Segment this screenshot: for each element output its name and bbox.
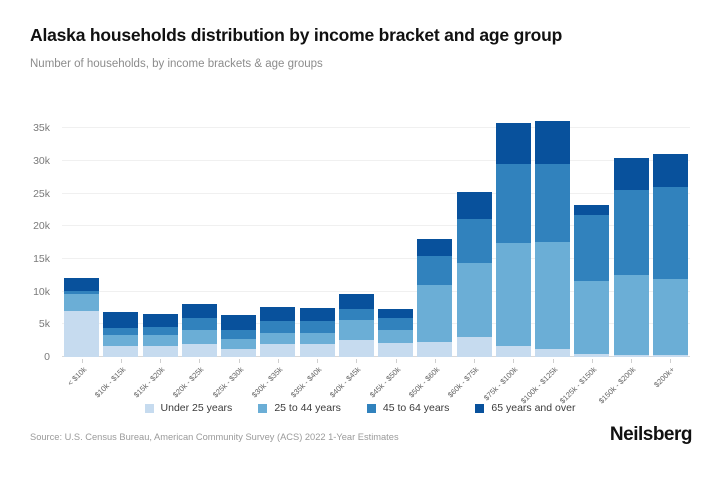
bar-stack[interactable] — [260, 112, 295, 357]
bar-segment[interactable] — [260, 321, 295, 333]
y-tick-label: 35k — [33, 123, 50, 134]
tick-mark — [356, 359, 357, 363]
legend-item[interactable]: 25 to 44 years — [258, 402, 341, 414]
bar-segment[interactable] — [143, 327, 178, 335]
y-axis-labels: 05k10k15k20k25k30k35k — [0, 112, 56, 357]
bar-segment[interactable] — [653, 154, 688, 187]
legend-label: 65 years and over — [491, 402, 575, 414]
bar-stack[interactable] — [103, 112, 138, 357]
bar-stack[interactable] — [653, 112, 688, 357]
bar-segment[interactable] — [535, 349, 570, 357]
bar-segment[interactable] — [378, 309, 413, 319]
tick-mark — [435, 359, 436, 363]
x-tick: $45k - $50k — [378, 357, 413, 403]
y-tick-label: 25k — [33, 188, 50, 199]
bar-segment[interactable] — [653, 279, 688, 355]
legend-label: 25 to 44 years — [274, 402, 341, 414]
bar-stack[interactable] — [182, 112, 217, 357]
tick-mark — [239, 359, 240, 363]
brand-logo: Neilsberg — [610, 424, 692, 446]
tick-mark — [592, 359, 593, 363]
legend-label: 45 to 64 years — [383, 402, 450, 414]
bar-segment[interactable] — [182, 304, 217, 318]
x-tick: $20k - $25k — [182, 357, 217, 403]
bar-segment[interactable] — [417, 256, 452, 285]
bar-segment[interactable] — [64, 294, 99, 312]
bar-segment[interactable] — [535, 242, 570, 348]
tick-mark — [199, 359, 200, 363]
bar-segment[interactable] — [574, 281, 609, 354]
bar-segment[interactable] — [417, 239, 452, 255]
bar-segment[interactable] — [535, 121, 570, 164]
bar-stack[interactable] — [378, 112, 413, 357]
bar-segment[interactable] — [457, 192, 492, 219]
x-tick: $35k - $40k — [300, 357, 335, 403]
x-tick-label: $200k+ — [653, 365, 677, 389]
y-tick-label: 15k — [33, 254, 50, 265]
legend-swatch-icon — [367, 404, 376, 413]
legend-swatch-icon — [258, 404, 267, 413]
bar-segment[interactable] — [103, 346, 138, 357]
bar-group — [62, 112, 690, 357]
bar-segment[interactable] — [260, 333, 295, 344]
bar-stack[interactable] — [417, 112, 452, 357]
bar-segment[interactable] — [496, 123, 531, 164]
legend-item[interactable]: 65 years and over — [475, 402, 575, 414]
bar-stack[interactable] — [64, 112, 99, 357]
bar-segment[interactable] — [300, 321, 335, 333]
bar-segment[interactable] — [300, 308, 335, 321]
bar-segment[interactable] — [378, 343, 413, 357]
bar-segment[interactable] — [614, 275, 649, 355]
bar-segment[interactable] — [221, 349, 256, 357]
bar-segment[interactable] — [496, 164, 531, 243]
tick-mark — [553, 359, 554, 363]
tick-mark — [631, 359, 632, 363]
bar-segment[interactable] — [300, 333, 335, 344]
bar-segment[interactable] — [182, 330, 217, 344]
bar-segment[interactable] — [496, 346, 531, 357]
bar-segment[interactable] — [221, 315, 256, 331]
bar-segment[interactable] — [103, 335, 138, 346]
y-tick-label: 20k — [33, 221, 50, 232]
legend-label: Under 25 years — [161, 402, 233, 414]
bar-segment[interactable] — [260, 344, 295, 357]
bar-segment[interactable] — [64, 311, 99, 357]
bar-segment[interactable] — [221, 330, 256, 339]
bar-segment[interactable] — [574, 205, 609, 215]
legend-item[interactable]: Under 25 years — [145, 402, 233, 414]
chart-card: Alaska households distribution by income… — [0, 0, 720, 480]
x-tick: $25k - $30k — [221, 357, 256, 403]
tick-mark — [474, 359, 475, 363]
x-tick: $15k - $20k — [143, 357, 178, 403]
bar-segment[interactable] — [653, 187, 688, 279]
tick-mark — [670, 359, 671, 363]
legend-swatch-icon — [475, 404, 484, 413]
bar-segment[interactable] — [535, 164, 570, 242]
bar-stack[interactable] — [457, 112, 492, 357]
bar-segment[interactable] — [221, 339, 256, 349]
tick-mark — [82, 359, 83, 363]
bar-segment[interactable] — [260, 307, 295, 321]
bar-segment[interactable] — [64, 278, 99, 291]
chart-subtitle: Number of households, by income brackets… — [30, 58, 323, 70]
legend-swatch-icon — [145, 404, 154, 413]
bar-stack[interactable] — [614, 112, 649, 357]
x-axis-labels: < $10k$10k - $15k$15k - $20k$20k - $25k$… — [62, 357, 690, 403]
bar-stack[interactable] — [221, 112, 256, 357]
x-tick: $30k - $35k — [260, 357, 295, 403]
bar-segment[interactable] — [417, 285, 452, 342]
tick-mark — [160, 359, 161, 363]
bar-segment[interactable] — [143, 346, 178, 357]
bar-segment[interactable] — [378, 318, 413, 329]
bar-segment[interactable] — [614, 158, 649, 190]
bar-segment[interactable] — [339, 294, 374, 309]
bar-stack[interactable] — [339, 112, 374, 357]
bar-segment[interactable] — [457, 219, 492, 263]
x-tick-label: < $10k — [65, 365, 88, 388]
x-tick: $40k - $45k — [339, 357, 374, 403]
bar-segment[interactable] — [103, 328, 138, 335]
y-tick-label: 5k — [39, 319, 50, 330]
plot-area — [62, 112, 690, 357]
bar-segment[interactable] — [614, 190, 649, 276]
y-tick-label: 10k — [33, 286, 50, 297]
bar-segment[interactable] — [182, 318, 217, 330]
x-tick: $150k - $200k — [614, 357, 649, 403]
chart-legend: Under 25 years25 to 44 years45 to 64 yea… — [0, 402, 720, 414]
source-note: Source: U.S. Census Bureau, American Com… — [30, 432, 399, 442]
bar-stack[interactable] — [143, 112, 178, 357]
tick-mark — [278, 359, 279, 363]
tick-mark — [513, 359, 514, 363]
bar-stack[interactable] — [574, 112, 609, 357]
bar-segment[interactable] — [103, 312, 138, 328]
bar-segment[interactable] — [457, 337, 492, 357]
bar-segment[interactable] — [496, 243, 531, 346]
x-tick: $50k - $60k — [417, 357, 452, 403]
x-tick: $10k - $15k — [103, 357, 138, 403]
bar-segment[interactable] — [339, 320, 374, 340]
x-tick: < $10k — [64, 357, 99, 403]
bar-segment[interactable] — [143, 335, 178, 346]
bar-segment[interactable] — [300, 344, 335, 357]
bar-stack[interactable] — [535, 112, 570, 357]
bar-segment[interactable] — [457, 263, 492, 337]
bar-segment[interactable] — [378, 330, 413, 343]
bar-segment[interactable] — [143, 314, 178, 327]
page-title: Alaska households distribution by income… — [30, 25, 562, 46]
bar-segment[interactable] — [417, 342, 452, 357]
y-tick-label: 30k — [33, 156, 50, 167]
x-tick: $200k+ — [653, 357, 688, 403]
bar-segment[interactable] — [182, 344, 217, 357]
legend-item[interactable]: 45 to 64 years — [367, 402, 450, 414]
bar-stack[interactable] — [496, 112, 531, 357]
tick-mark — [317, 359, 318, 363]
bar-segment[interactable] — [574, 215, 609, 281]
bar-segment[interactable] — [339, 309, 374, 321]
bar-stack[interactable] — [300, 112, 335, 357]
tick-mark — [121, 359, 122, 363]
bar-segment[interactable] — [339, 340, 374, 357]
y-tick-label: 0 — [44, 352, 50, 363]
tick-mark — [396, 359, 397, 363]
